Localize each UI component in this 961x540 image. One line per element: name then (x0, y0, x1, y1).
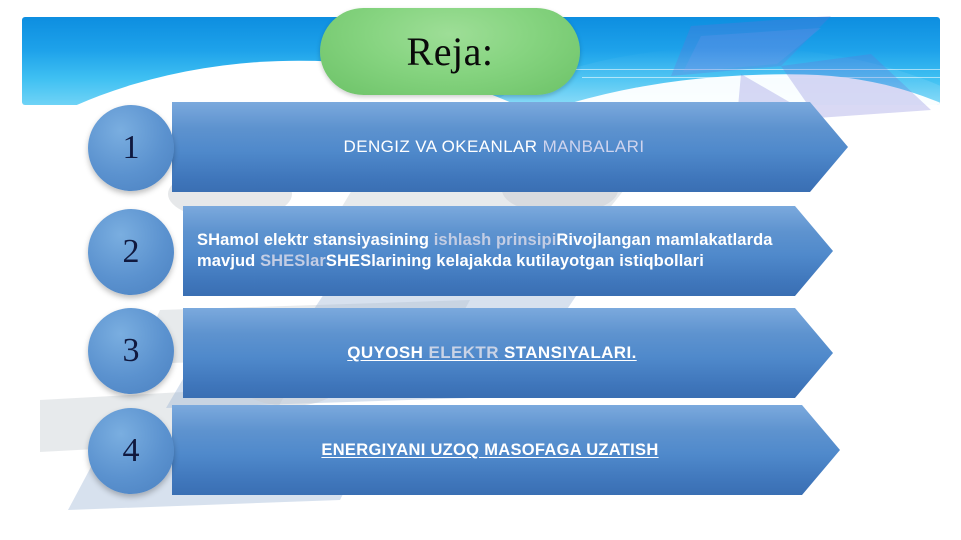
step-number-3: 3 (123, 334, 140, 368)
agenda-item-4-text: ENERGIYANI UZOQ MASOFAGA UZATISH (321, 441, 658, 459)
agenda-item-arrow-2[interactable]: SHamol elektr stansiyasining ishlash pri… (183, 206, 833, 296)
agenda-item-3-seg2: ELEKTR (428, 343, 498, 362)
slide-title-pill: Reja: (320, 8, 580, 95)
agenda-item-label-2: SHamol elektr stansiyasining ishlash pri… (183, 230, 833, 272)
step-number-badge-1[interactable]: 1 (88, 105, 174, 191)
agenda-item-arrow-1[interactable]: DENGIZ VA OKEANLAR MANBALARI (172, 102, 848, 192)
agenda-item-arrow-3[interactable]: QUYOSH ELEKTR STANSIYALARI. (183, 308, 833, 398)
agenda-item-2-seg5: SHESlarining kelajakda kutilayotgan isti… (326, 252, 704, 270)
step-number-4: 4 (123, 434, 140, 468)
agenda-item-2-seg2: ishlash prinsipi (434, 231, 557, 249)
agenda-item-2-seg1: SHamol elektr stansiyasining (197, 231, 434, 249)
agenda-item-label-4: ENERGIYANI UZOQ MASOFAGA UZATISH (172, 441, 840, 460)
step-number-badge-2[interactable]: 2 (88, 209, 174, 295)
step-number-badge-4[interactable]: 4 (88, 408, 174, 494)
agenda-item-2-seg4: SHESlar (260, 252, 326, 270)
step-number-badge-3[interactable]: 3 (88, 308, 174, 394)
agenda-item-label-1: DENGIZ VA OKEANLAR MANBALARI (172, 137, 848, 157)
step-number-2: 2 (123, 235, 140, 269)
agenda-item-3-seg1: QUYOSH (347, 343, 428, 362)
agenda-item-1-dim: MANBALARI (543, 137, 645, 156)
agenda-item-label-3: QUYOSH ELEKTR STANSIYALARI. (183, 343, 833, 363)
header-streak-icon (582, 77, 940, 78)
page-title: Reja: (407, 32, 494, 72)
agenda-item-1-bright: DENGIZ VA OKEANLAR (344, 137, 543, 156)
header-streak-icon (542, 69, 940, 70)
agenda-item-arrow-4[interactable]: ENERGIYANI UZOQ MASOFAGA UZATISH (172, 405, 840, 495)
step-number-1: 1 (123, 131, 140, 165)
agenda-item-3-seg3: STANSIYALARI. (499, 343, 637, 362)
presentation-slide: Reja: 1 DENGIZ VA OKEANLAR MANBALARI 2 S… (0, 0, 961, 540)
